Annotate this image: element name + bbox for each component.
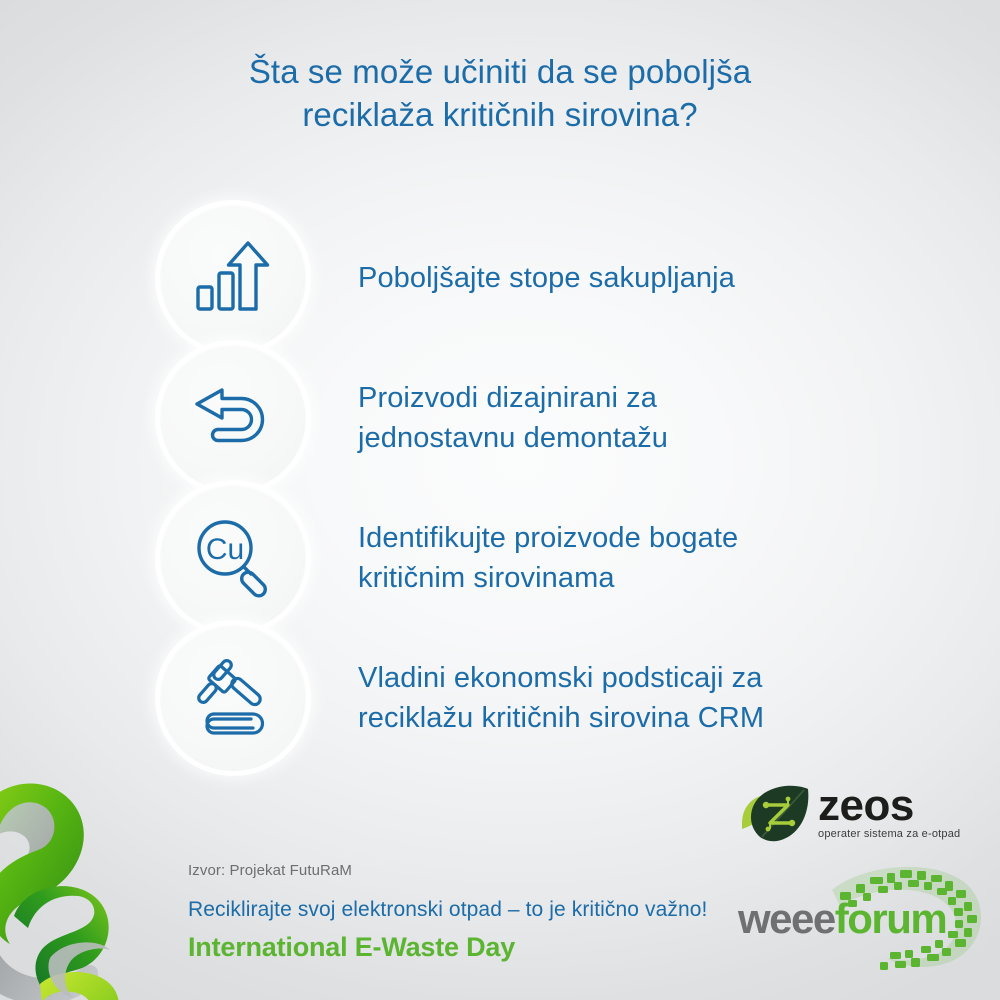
bar-chart-up-arrow-icon (190, 235, 276, 321)
weee-forum-logo: weeeforum (736, 862, 986, 974)
list-item-label: Proizvodi dizajnirani za jednostavnu dem… (358, 378, 668, 458)
campaign-name: International E-Waste Day (188, 932, 515, 963)
svg-text:Cu: Cu (206, 533, 244, 566)
zeos-wordmark: zeos operater sistema za e-otpad (818, 785, 960, 841)
page-title-line-1: Šta se može učiniti da se poboljša (0, 50, 1000, 93)
list-item: Proizvodi dizajnirani za jednostavnu dem… (160, 345, 950, 491)
leaf-circuit-icon (738, 781, 812, 845)
list-item-label: Poboljšajte stope sakupljanja (358, 258, 735, 298)
weee-forum-wordmark: weeeforum (738, 898, 946, 940)
page-title-line-2: reciklaža kritičnih sirovina? (0, 93, 1000, 136)
list-item: Vladini ekonomski podsticaji za reciklaž… (160, 625, 950, 771)
infographic-poster: Šta se može učiniti da se poboljša recik… (0, 0, 1000, 1000)
magnifier-copper-icon: Cu (189, 514, 277, 602)
icon-circle-4 (160, 625, 306, 771)
zeos-name: zeos (818, 785, 960, 827)
icon-circle-2 (160, 345, 306, 491)
green-e-ribbon-graphic (0, 762, 204, 1000)
weee-text: weee (738, 895, 835, 942)
u-turn-arrow-icon (189, 374, 277, 462)
source-credit: Izvor: Projekat FutuRaM (188, 862, 352, 879)
icon-circle-1 (160, 205, 306, 351)
list-item: Cu Identifikujte proizvode bogate kritič… (160, 485, 950, 631)
page-title: Šta se može učiniti da se poboljša recik… (0, 50, 1000, 136)
campaign-tagline: Reciklirajte svoj elektronski otpad – to… (188, 898, 707, 922)
list-item: Poboljšajte stope sakupljanja (160, 205, 950, 351)
gavel-book-icon (189, 654, 277, 742)
zeos-subtitle: operater sistema za e-otpad (818, 827, 960, 841)
list-item-label: Identifikujte proizvode bogate kritičnim… (358, 518, 738, 598)
zeos-logo: zeos operater sistema za e-otpad (738, 778, 970, 848)
icon-circle-3: Cu (160, 485, 306, 631)
forum-text: forum (835, 895, 947, 942)
list-item-label: Vladini ekonomski podsticaji za reciklaž… (358, 658, 764, 738)
